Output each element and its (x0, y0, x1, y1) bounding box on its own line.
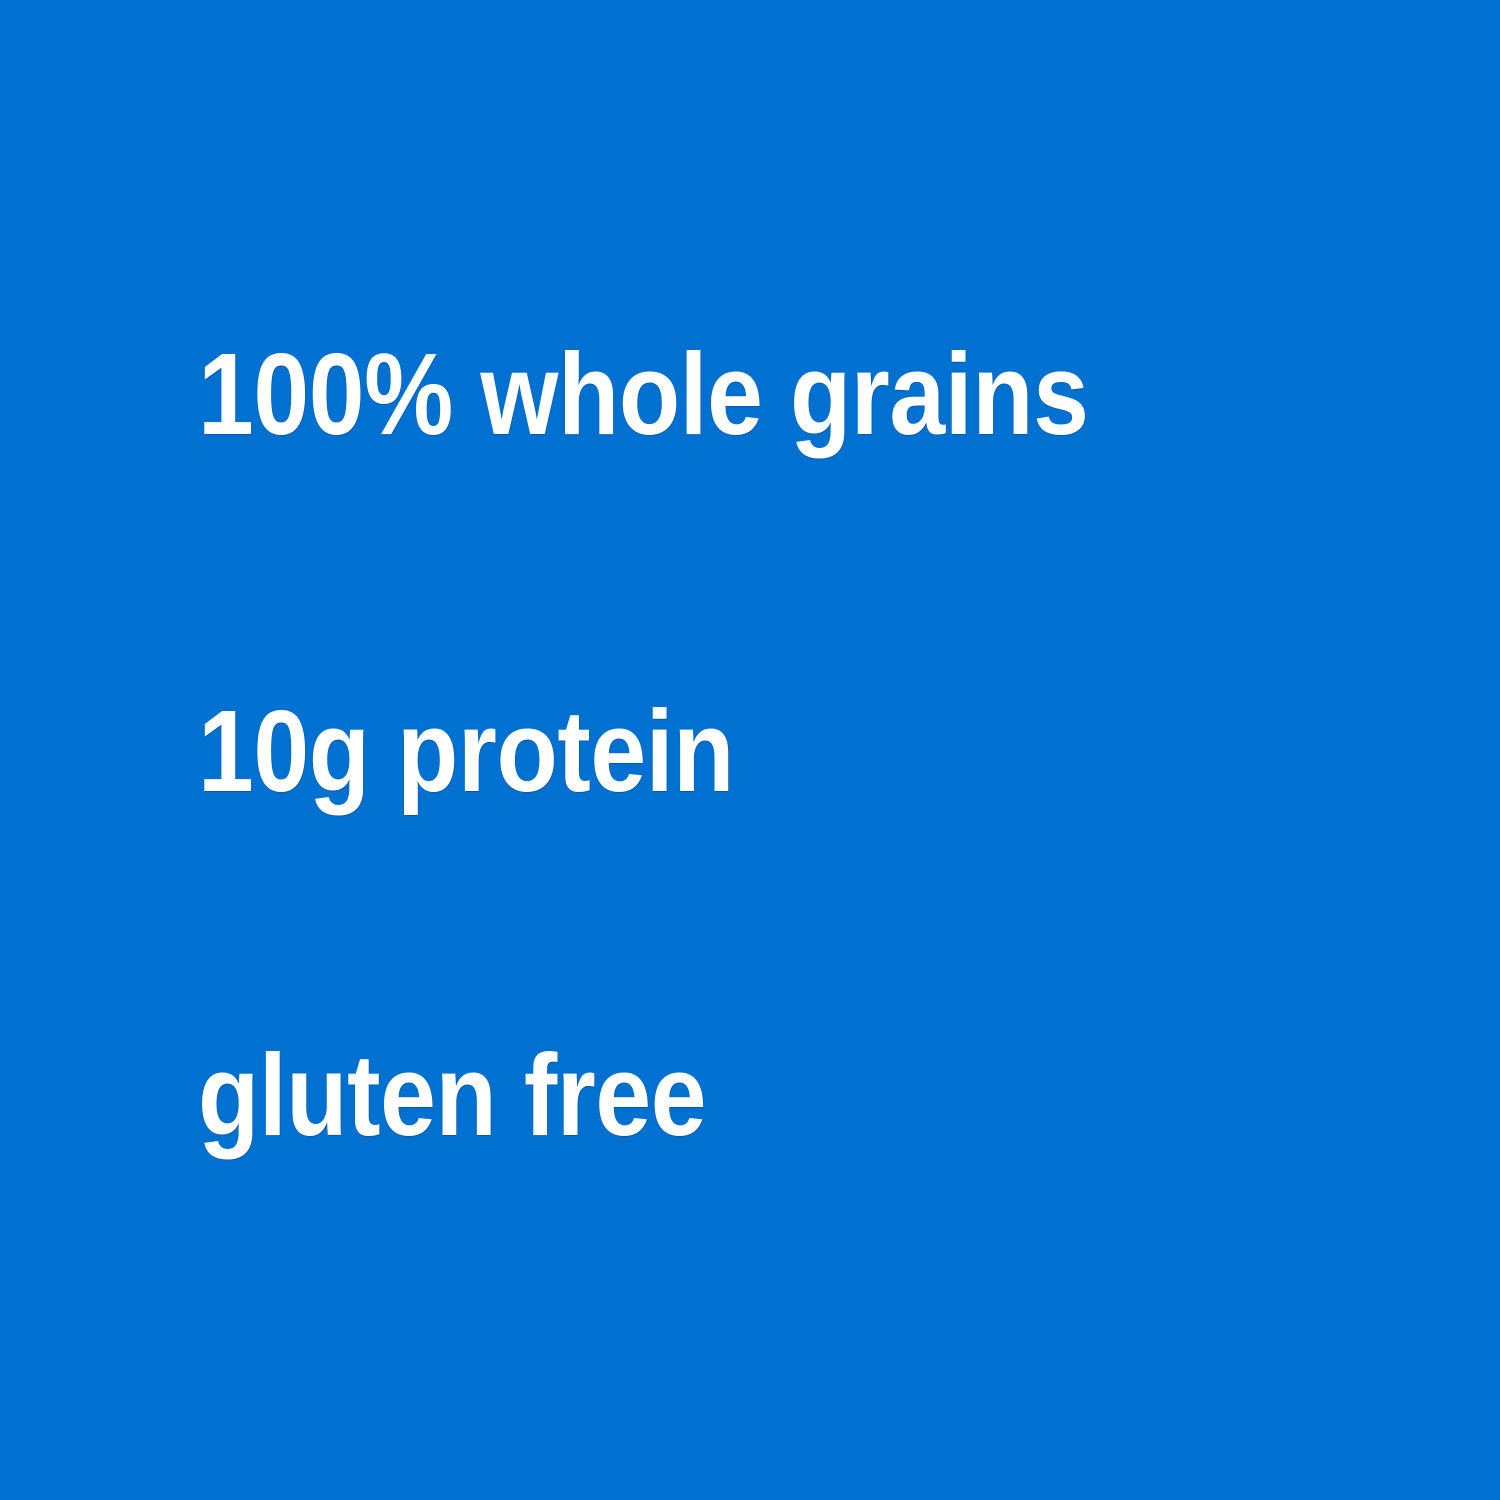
claim-item-gluten-free: gluten free (198, 1037, 706, 1153)
claim-item-whole-grains: 100% whole grains (198, 336, 1088, 452)
product-callout-panel: 100% whole grains 10g protein gluten fre… (0, 0, 1500, 1500)
claim-item-protein: 10g protein (198, 693, 734, 809)
product-claims-list: 100% whole grains 10g protein gluten fre… (0, 0, 1500, 1500)
